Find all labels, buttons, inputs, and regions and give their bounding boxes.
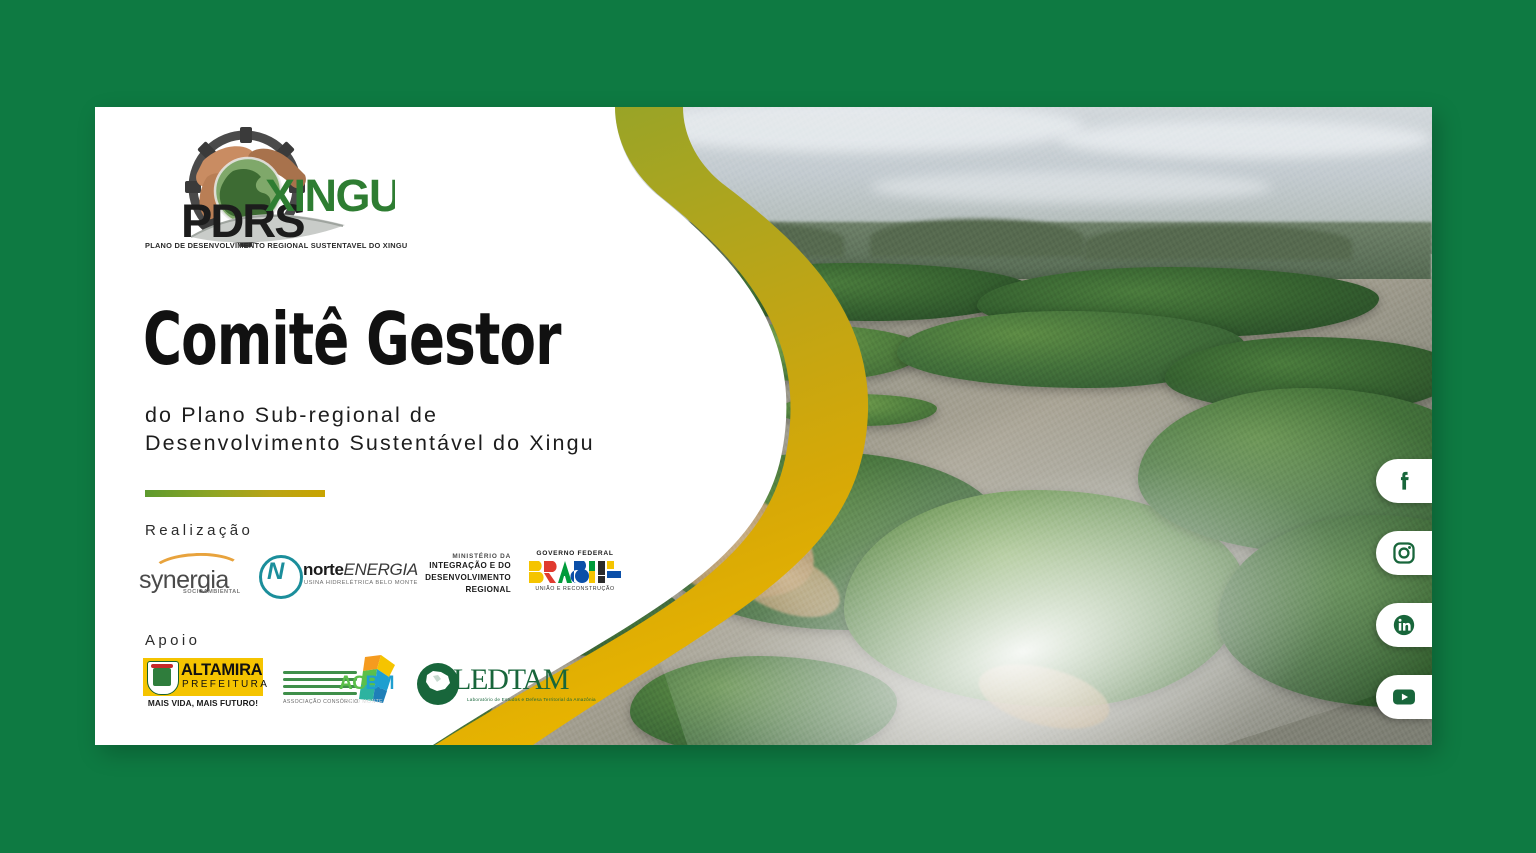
logo-tagline: PLANO DE DESENVOLVIMENTO REGIONAL SUSTEN… [145,241,395,250]
title-underline-rule [145,490,325,497]
social-link-instagram[interactable] [1376,531,1432,575]
altamira-subtitle: PREFEITURA [182,679,269,690]
ministerio-line4: REGIONAL [419,584,511,596]
ledtam-map-icon [424,669,452,693]
apoio-label: Apoio [145,632,200,649]
ministerio-logo: MINISTÉRIO DA INTEGRAÇÃO E DO DESENVOLVI… [419,550,511,598]
altamira-wordmark: ALTAMIRA [181,661,262,680]
acbm-subtitle-right: BELO MONTE [345,699,383,705]
governo-federal-top-label: GOVERNO FEDERAL [525,550,625,557]
slide-stage: PDRS XINGU PLANO DE DESENVOLVIMENTO REGI… [0,0,1536,853]
norte-energia-wordmark: norteENERGIA [303,561,418,578]
altamira-slogan: MAIS VIDA, MAIS FUTURO! [143,698,263,708]
facebook-icon[interactable] [1391,468,1417,494]
norte-energia-tagline: USINA HIDRELÉTRICA BELO MONTE [304,580,418,586]
social-link-facebook[interactable] [1376,459,1432,503]
synergia-logo: synergia SOCIOAMBIENTAL [139,551,251,597]
ledtam-logo: LEDTAM Laboratório de Estudos e Defesa T… [417,659,549,709]
instagram-icon[interactable] [1391,540,1417,566]
brasil-wordmark [527,559,623,585]
ministerio-line2: INTEGRAÇÃO E DO [419,560,511,572]
social-media-rail [1376,459,1432,745]
realizacao-label: Realização [145,522,253,539]
apoio-logo-row: ALTAMIRA PREFEITURA MAIS VIDA, MAIS FUTU… [143,655,549,713]
acbm-logo: ACBM ASSOCIAÇÃO CONSÓRCIO BELO MONTE [283,655,395,713]
governo-federal-bottom-label: UNIÃO E RECONSTRUÇÃO [525,586,625,592]
ledtam-subtitle: Laboratório de Estudos e Defesa Territor… [467,697,596,702]
altamira-coat-of-arms-icon [147,661,179,695]
linkedin-icon[interactable] [1391,612,1417,638]
norte-energia-word-light: ENERGIA [344,560,418,579]
social-link-linkedin[interactable] [1376,603,1432,647]
synergia-tagline: SOCIOAMBIENTAL [183,589,241,595]
norte-energia-word-bold: norte [303,560,344,579]
page-title: Comitê Gestor [143,303,561,375]
social-link-youtube[interactable] [1376,675,1432,719]
ministerio-line1: MINISTÉRIO DA [419,553,511,560]
ledtam-wordmark: LEDTAM [453,665,568,695]
prefeitura-altamira-logo: ALTAMIRA PREFEITURA MAIS VIDA, MAIS FUTU… [143,658,263,710]
acbm-wordmark: ACBM [339,673,394,695]
ministerio-line3: DESENVOLVIMENTO [419,572,511,584]
norte-energia-n-mark: N [267,560,284,584]
norte-energia-logo: N norteENERGIA USINA HIDRELÉTRICA BELO M… [257,551,399,597]
realizacao-logo-row: synergia SOCIOAMBIENTAL N norteENERGIA U… [139,550,625,598]
presentation-card: PDRS XINGU PLANO DE DESENVOLVIMENTO REGI… [95,107,1432,745]
svg-text:XINGU: XINGU [265,170,395,221]
youtube-icon[interactable] [1390,683,1418,711]
left-content-panel: PDRS XINGU PLANO DE DESENVOLVIMENTO REGI… [95,107,655,745]
governo-federal-logo: GOVERNO FEDERAL [525,550,625,598]
page-subtitle: do Plano Sub-regional de Desenvolvimento… [145,401,615,458]
